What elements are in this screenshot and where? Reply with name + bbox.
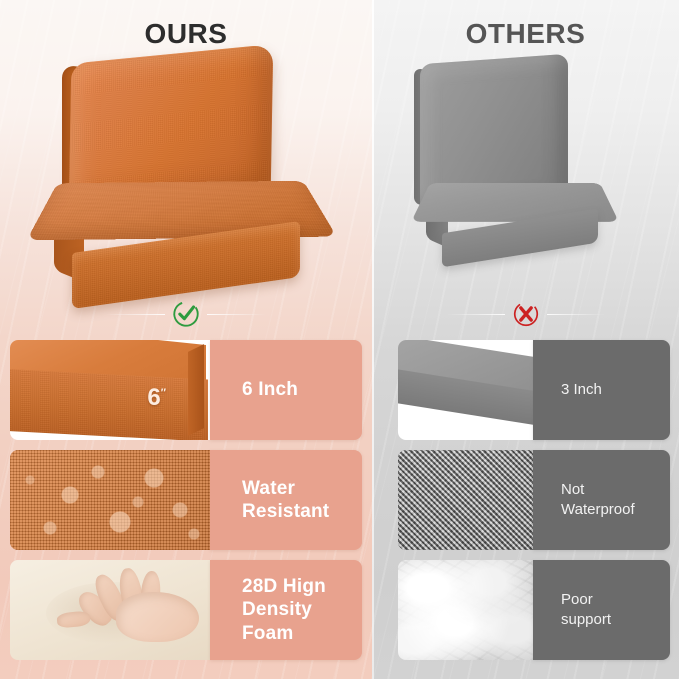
- thumb-cushion-thickness-others: [398, 340, 533, 440]
- thumb-fiberfill-others: [398, 560, 533, 660]
- heading-others: OTHERS: [372, 18, 679, 50]
- feature-label-ours-water: Water Resistant: [210, 450, 362, 550]
- feature-label-line: 3 Inch: [547, 380, 602, 400]
- feature-row-ours-thickness: 6″ 6 Inch: [10, 340, 362, 440]
- thumb-mesh-fabric-others: [398, 450, 533, 550]
- check-mark-icon: [171, 299, 201, 329]
- panel-divider: [372, 0, 374, 679]
- thumb-foam-density-ours: [10, 560, 210, 660]
- thumb-cushion-thickness-ours: 6″: [10, 340, 210, 440]
- feature-label-line: Resistant: [226, 500, 329, 523]
- rule-left: [445, 314, 505, 315]
- feature-row-ours-foam: 28D Hign Density Foam: [10, 560, 362, 660]
- feature-row-ours-water: Water Resistant: [10, 450, 362, 550]
- feature-label-others-thickness: 3 Inch: [533, 340, 670, 440]
- heading-ours: OURS: [0, 18, 372, 50]
- feature-row-others-support: Poor support: [398, 560, 670, 660]
- comparison-infographic: OURS OTHERS: [0, 0, 679, 679]
- hero-image-others: [408, 55, 620, 295]
- feature-label-line: 6 Inch: [226, 378, 298, 401]
- hero-image-ours: [40, 52, 332, 300]
- rule-left: [105, 314, 165, 315]
- hand-illustration: [54, 566, 202, 654]
- feature-label-line: Density Foam: [226, 598, 362, 644]
- feature-label-line: Not: [547, 480, 635, 500]
- feature-label-ours-thickness: 6 Inch: [210, 340, 362, 440]
- feature-label-line: 28D Hign: [226, 575, 362, 598]
- thumb-water-resistant-ours: [10, 450, 210, 550]
- cross-mark-icon: [511, 299, 541, 329]
- badge-row-ours: [0, 296, 372, 332]
- feature-label-others-water: Not Waterproof: [533, 450, 670, 550]
- feature-label-ours-foam: 28D Hign Density Foam: [210, 560, 362, 660]
- feature-label-line: Water: [226, 477, 329, 500]
- feature-row-others-water: Not Waterproof: [398, 450, 670, 550]
- feature-row-others-thickness: 3 Inch: [398, 340, 670, 440]
- rule-right: [207, 314, 267, 315]
- badge-row-others: [372, 296, 679, 332]
- feature-label-line: support: [547, 610, 611, 630]
- feature-label-others-support: Poor support: [533, 560, 670, 660]
- rule-right: [547, 314, 607, 315]
- thickness-marker-ours: 6″: [147, 384, 166, 412]
- feature-label-line: Waterproof: [547, 500, 635, 520]
- feature-label-line: Poor: [547, 590, 611, 610]
